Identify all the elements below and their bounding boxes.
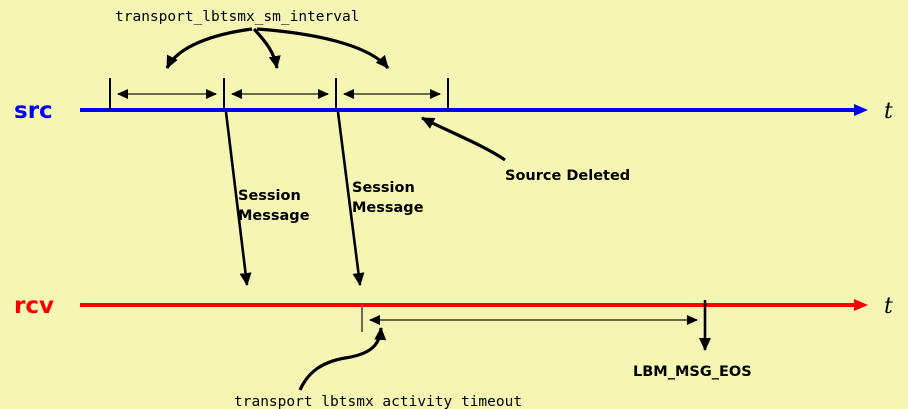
rcv-axis-label: rcv xyxy=(14,293,54,319)
source-deleted-arrow xyxy=(422,118,505,160)
session-message-1-line1: Session xyxy=(238,188,301,204)
rcv-time-label: t xyxy=(884,294,893,319)
timeout-callout-arrow xyxy=(300,328,381,390)
session-message-label-1: Session Message xyxy=(238,188,310,224)
src-timeline: src t xyxy=(14,98,893,124)
session-message-1-line2: Message xyxy=(238,208,310,224)
session-message-2-line2: Message xyxy=(352,200,424,216)
source-deleted-callout: Source Deleted xyxy=(422,118,630,184)
session-message-2-line1: Session xyxy=(352,180,415,196)
interval-annotation-label: transport_lbtsmx_sm_interval xyxy=(115,9,359,25)
lbm-msg-eos-label: LBM_MSG_EOS xyxy=(633,364,752,380)
diagram-canvas: src t transport_lbtsmx_sm_interval xyxy=(0,0,908,409)
timeout-callout: transport_lbtsmx_activity_timeout xyxy=(234,328,522,409)
timing-diagram: src t transport_lbtsmx_sm_interval xyxy=(0,0,908,409)
interval-callout-arrow-1 xyxy=(167,29,252,68)
interval-callout-arrow-2 xyxy=(254,29,277,68)
timeout-measure xyxy=(362,305,697,332)
src-time-label: t xyxy=(884,99,893,124)
session-message-arrow-2 xyxy=(338,112,360,285)
source-deleted-label: Source Deleted xyxy=(505,168,630,184)
interval-callout-arrows xyxy=(167,29,388,68)
timeout-annotation-label: transport_lbtsmx_activity_timeout xyxy=(234,394,522,409)
session-message-label-2: Session Message xyxy=(352,180,424,216)
lbm-msg-eos-event: LBM_MSG_EOS xyxy=(633,300,752,380)
src-axis-label: src xyxy=(14,98,53,124)
rcv-timeline: rcv t xyxy=(14,293,893,319)
